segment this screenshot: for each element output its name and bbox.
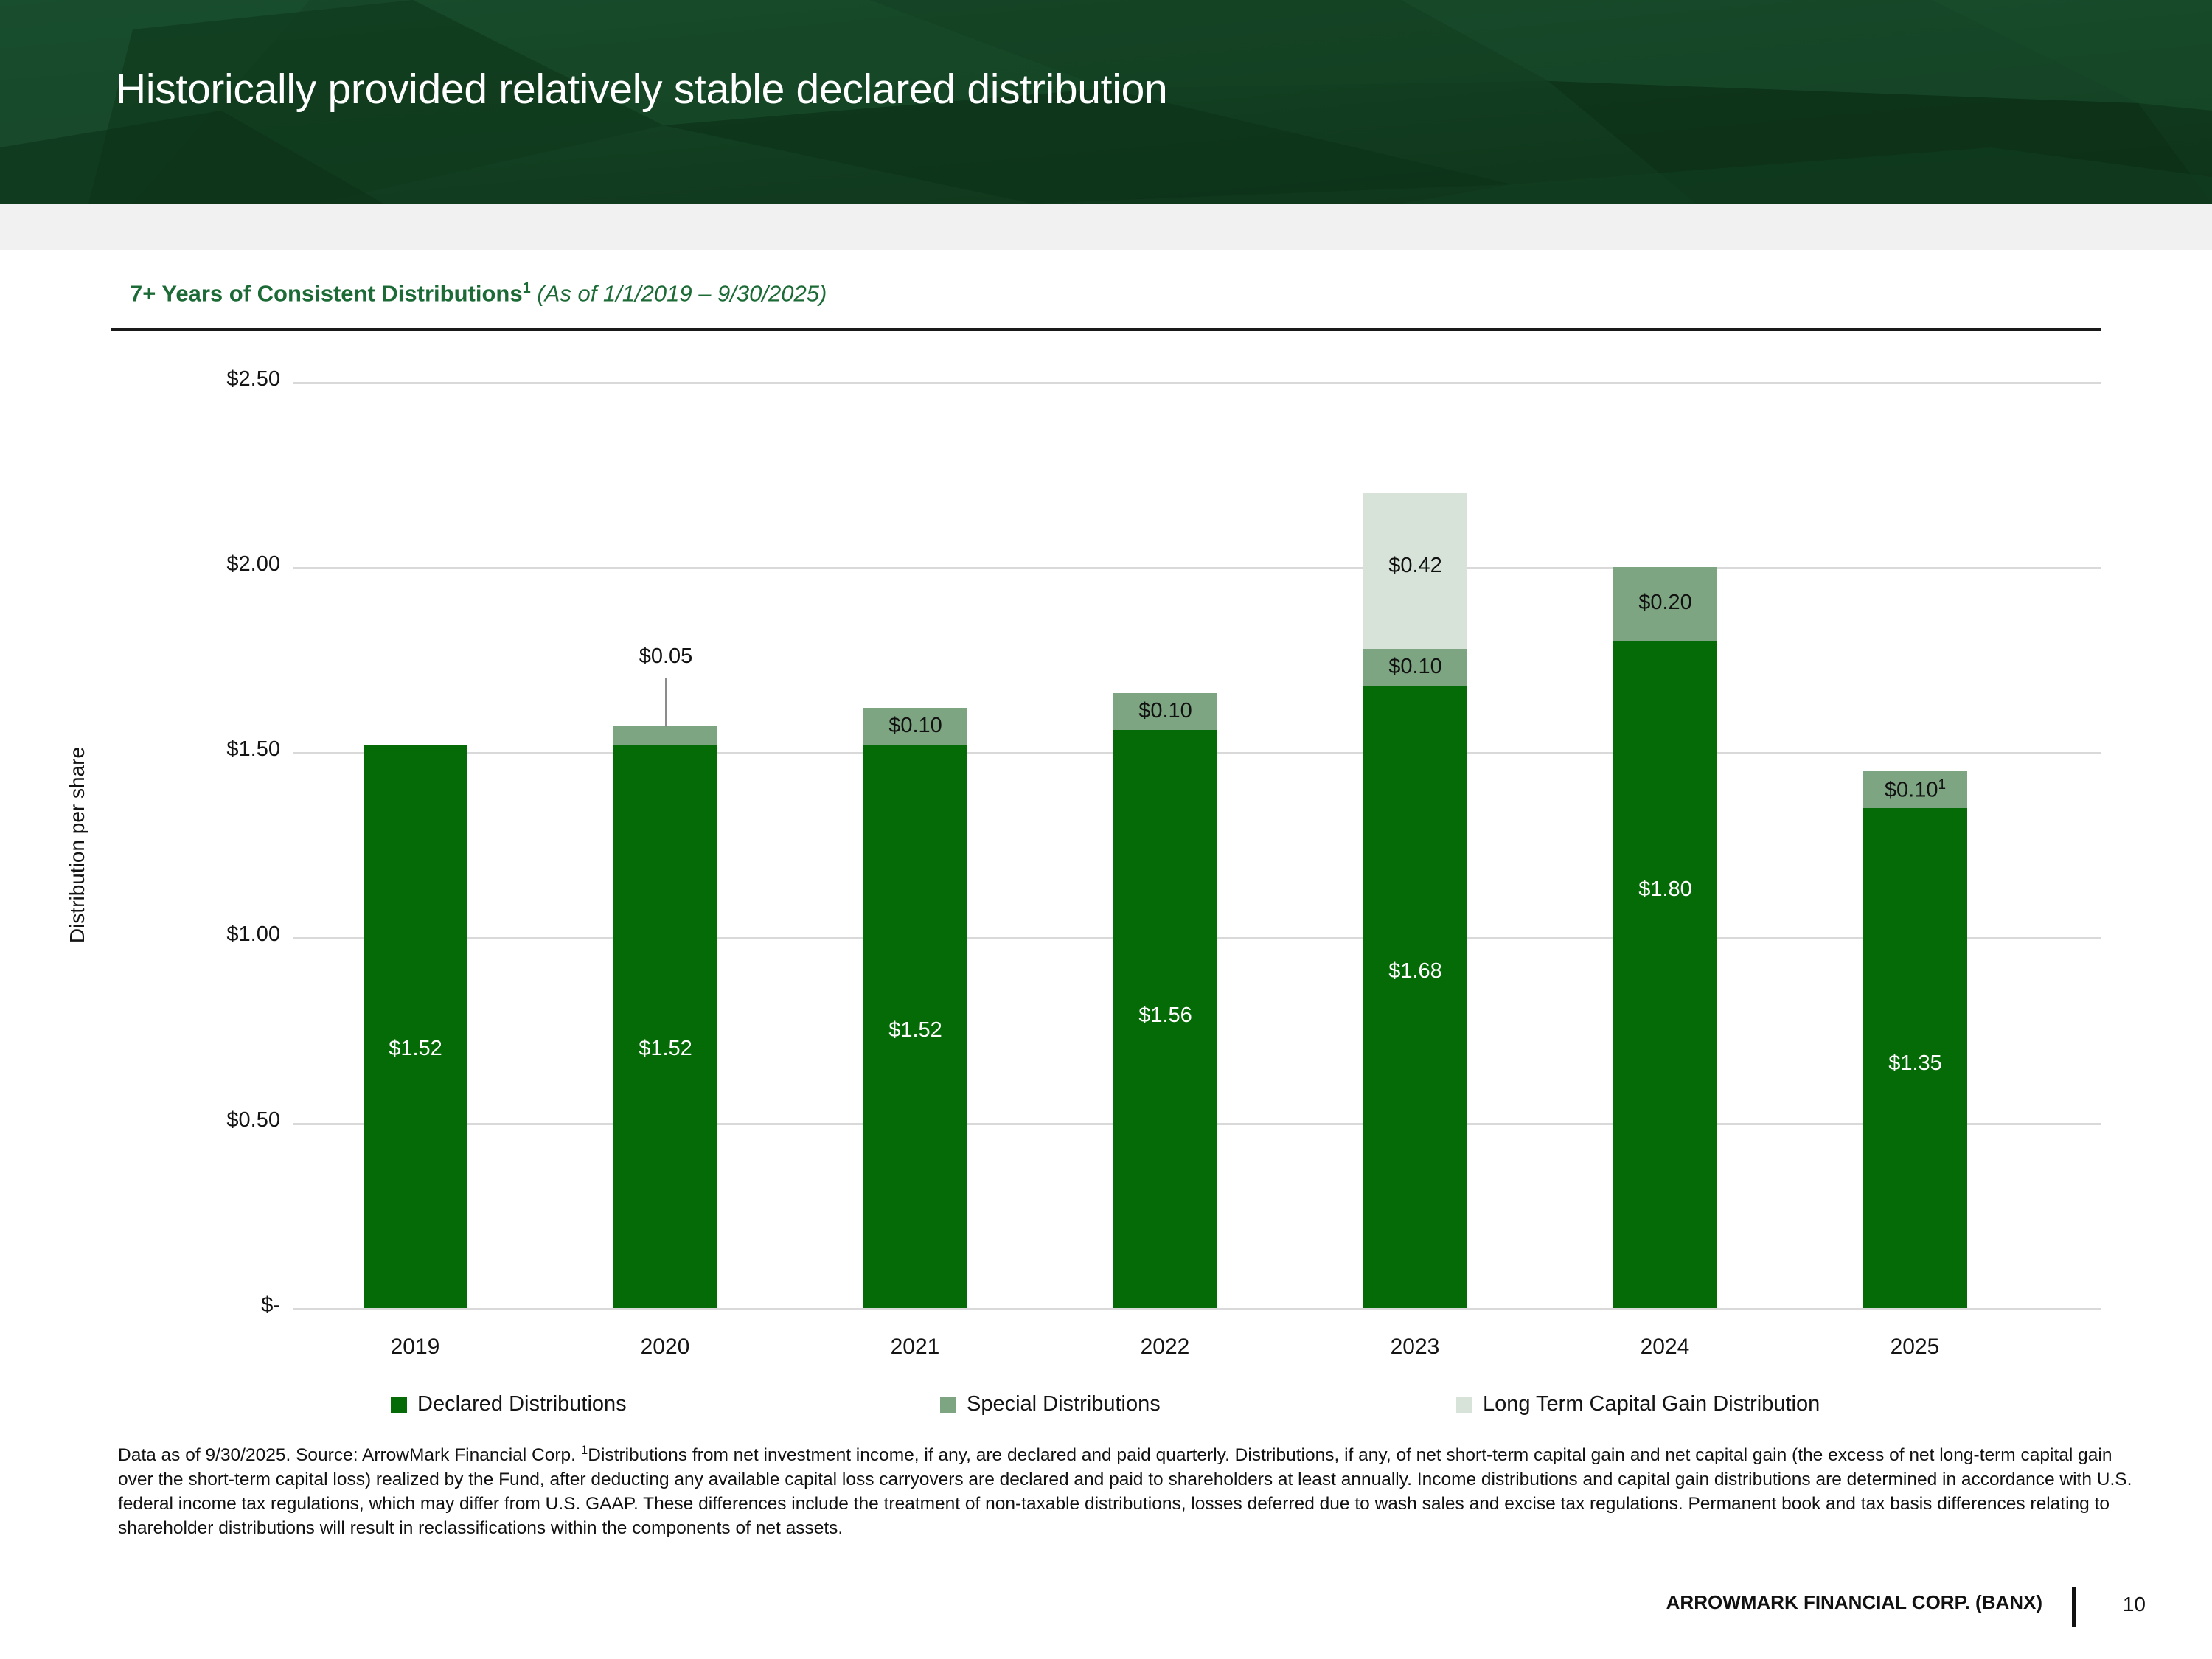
x-tick-label-2021: 2021: [819, 1335, 1011, 1360]
bar-value-declared-2023: $1.68: [1363, 959, 1467, 984]
legend-swatch-special-icon: [940, 1397, 956, 1413]
bar-value-declared-2025: $1.35: [1863, 1051, 1967, 1076]
bar-segment-declared-2023[interactable]: $1.68: [1363, 686, 1467, 1308]
gridline-2-00: [293, 567, 2101, 569]
bar-value-declared-2024: $1.80: [1613, 877, 1717, 902]
bar-column-2024[interactable]: $0.20 $1.80: [1613, 567, 1717, 1308]
y-tick-label-2-50: $2.50: [140, 367, 280, 392]
bar-segment-special-2025[interactable]: $0.101: [1863, 771, 1967, 808]
bar-segment-special-2020[interactable]: [613, 726, 717, 745]
legend-label-special: Special Distributions: [967, 1392, 1161, 1416]
bar-column-2019[interactable]: $1.52: [364, 745, 467, 1308]
x-tick-label-2020: 2020: [569, 1335, 761, 1360]
bar-column-2021[interactable]: $0.10 $1.52: [863, 708, 967, 1308]
callout-leader-line-2020: [665, 678, 667, 727]
bar-column-2025[interactable]: $0.101 $1.35: [1863, 771, 1967, 1308]
footnote-lead: Data as of 9/30/2025. Source: ArrowMark …: [118, 1445, 581, 1465]
footnote-text: Data as of 9/30/2025. Source: ArrowMark …: [118, 1438, 2149, 1540]
y-tick-label-0-50: $0.50: [140, 1108, 280, 1133]
legend-label-ltcg: Long Term Capital Gain Distribution: [1483, 1392, 1820, 1416]
x-tick-label-2022: 2022: [1069, 1335, 1261, 1360]
legend-swatch-ltcg-icon: [1456, 1397, 1472, 1413]
bar-value-declared-2019: $1.52: [364, 1037, 467, 1061]
bar-value-special-2024: $0.20: [1613, 591, 1717, 615]
bar-value-special-2022: $0.10: [1113, 699, 1217, 723]
footnote-marker: 1: [581, 1443, 588, 1457]
footer-company-name: ARROWMARK FINANCIAL CORP. (BANX): [1666, 1591, 2042, 1614]
y-tick-label-2-00: $2.00: [140, 552, 280, 577]
y-tick-label-zero: $-: [140, 1293, 280, 1318]
distribution-bar-chart: Distribution per share $2.50 $2.00 $1.50…: [0, 0, 2212, 1659]
bar-value-special-2020: $0.05: [592, 644, 740, 669]
legend-item-special[interactable]: Special Distributions: [940, 1392, 1161, 1416]
legend-item-ltcg[interactable]: Long Term Capital Gain Distribution: [1456, 1392, 1820, 1416]
bar-segment-declared-2022[interactable]: $1.56: [1113, 730, 1217, 1308]
slide-footer: ARROWMARK FINANCIAL CORP. (BANX) 10: [0, 1591, 2212, 1635]
bar-segment-declared-2025[interactable]: $1.35: [1863, 808, 1967, 1308]
x-tick-label-2019: 2019: [319, 1335, 511, 1360]
legend-label-declared: Declared Distributions: [417, 1392, 627, 1416]
page-title: Historically provided relatively stable …: [116, 65, 1167, 114]
bar-column-2023[interactable]: $0.42 $0.10 $1.68: [1363, 493, 1467, 1308]
legend-item-declared[interactable]: Declared Distributions: [391, 1392, 627, 1416]
bar-column-2022[interactable]: $0.10 $1.56: [1113, 693, 1217, 1308]
y-tick-label-1-50: $1.50: [140, 737, 280, 762]
x-tick-label-2025: 2025: [1819, 1335, 2011, 1360]
bar-value-special-2025: $0.101: [1863, 777, 1967, 803]
bar-segment-special-2023[interactable]: $0.10: [1363, 649, 1467, 686]
bar-segment-ltcg-2023[interactable]: $0.42: [1363, 493, 1467, 649]
gridline-zero-baseline: [293, 1308, 2101, 1310]
bar-value-ltcg-2023: $0.42: [1363, 554, 1467, 578]
bar-segment-declared-2021[interactable]: $1.52: [863, 745, 967, 1308]
chart-legend: Declared Distributions Special Distribut…: [0, 1392, 2212, 1422]
bar-value-declared-2020: $1.52: [613, 1037, 717, 1061]
x-tick-label-2024: 2024: [1569, 1335, 1761, 1360]
x-tick-label-2023: 2023: [1319, 1335, 1511, 1360]
bar-segment-special-2022[interactable]: $0.10: [1113, 693, 1217, 730]
bar-segment-declared-2024[interactable]: $1.80: [1613, 641, 1717, 1308]
bar-value-special-2021: $0.10: [863, 714, 967, 738]
bar-value-declared-2022: $1.56: [1113, 1004, 1217, 1028]
y-axis-title: Distribution per share: [66, 690, 89, 1000]
footer-page-number: 10: [2123, 1593, 2146, 1616]
footer-divider: [2072, 1587, 2076, 1627]
bar-segment-special-2021[interactable]: $0.10: [863, 708, 967, 745]
legend-swatch-declared-icon: [391, 1397, 407, 1413]
bar-segment-declared-2019[interactable]: $1.52: [364, 745, 467, 1308]
bar-column-2020[interactable]: $1.52: [613, 726, 717, 1308]
gridline-2-50: [293, 382, 2101, 384]
y-tick-label-1-00: $1.00: [140, 922, 280, 947]
special-2025-footnote-marker: 1: [1938, 777, 1947, 793]
bar-segment-special-2024[interactable]: $0.20: [1613, 567, 1717, 641]
bar-value-declared-2021: $1.52: [863, 1018, 967, 1043]
bar-value-special-2023: $0.10: [1363, 655, 1467, 679]
bar-segment-declared-2020[interactable]: $1.52: [613, 745, 717, 1308]
